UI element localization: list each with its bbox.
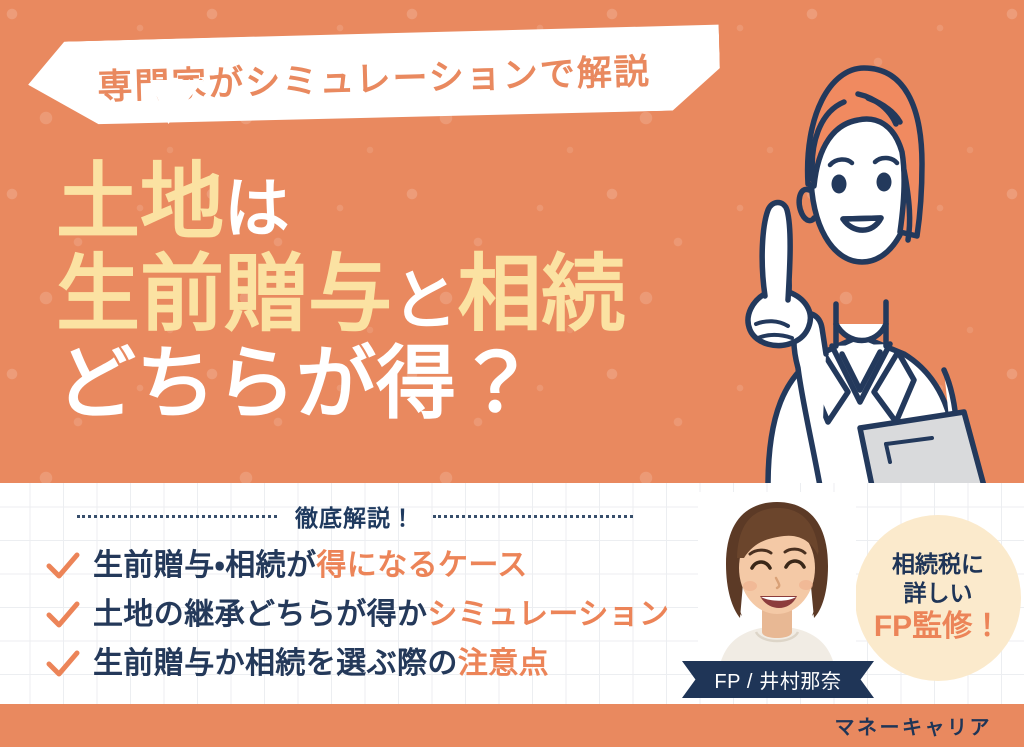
dotted-rule-left [77, 515, 277, 518]
bullet-1-plain: 生前贈与・相続が [93, 549, 316, 582]
list-item: 生前贈与か相続を選ぶ際の注意点 [46, 639, 746, 688]
dotted-rule-right [433, 515, 633, 518]
list-item: 土地の継承どちらが得かシミュレーション [46, 590, 746, 639]
headline-line-1-b: は [224, 172, 290, 245]
kicker-label: 徹底解説！ [295, 499, 415, 533]
banner-stage: 専門家がシミュレーションで解説 土地は 生前贈与と相続 どちらが得？ [0, 0, 1024, 747]
advisor-name: FP / 井村那奈 [714, 665, 841, 694]
badge-line-2: 詳しい [904, 580, 973, 607]
headline-line-1-a: 土地 [56, 155, 224, 249]
headline-line-3: どちらが得？ [56, 344, 746, 424]
hero-section: 専門家がシミュレーションで解説 土地は 生前贈与と相続 どちらが得？ [0, 0, 1024, 483]
list-item: 生前贈与・相続が得になるケース [46, 541, 746, 590]
bullet-2-highlight: シミュレーション [427, 598, 669, 631]
speech-bubble: 専門家がシミュレーションで解説 [27, 23, 721, 128]
list-item-text: 土地の継承どちらが得かシミュレーション [93, 600, 669, 630]
list-item-text: 生前贈与か相続を選ぶ際の注意点 [93, 649, 549, 679]
headline-line-2: 生前贈与と相続 [56, 252, 746, 336]
badge-line-1: 相続税に [892, 551, 984, 578]
status-badge: 相続税に 詳しい FP監修！ [855, 515, 1021, 681]
kicker-row: 徹底解説！ [0, 501, 710, 531]
name-ribbon: FP / 井村那奈 [682, 661, 874, 698]
list-item-text: 生前贈与・相続が得になるケース [93, 551, 528, 581]
speech-bubble-text: 専門家がシミュレーションで解説 [27, 23, 721, 128]
bullet-1-highlight: 得になるケース [316, 549, 527, 582]
check-icon [46, 601, 80, 629]
badge-line-3: FP監修！ [874, 610, 1002, 645]
check-icon [46, 552, 80, 580]
headline-line-1: 土地は [56, 160, 746, 244]
bullet-3-plain: 生前贈与か相続を選ぶ際の [93, 647, 458, 680]
avatar [698, 492, 856, 675]
bullet-3-highlight: 注意点 [458, 647, 549, 680]
page-title: 土地は 生前贈与と相続 どちらが得？ [56, 160, 746, 424]
check-icon [46, 650, 80, 678]
headline-line-2-c: 相続 [458, 247, 626, 341]
pointing-businesswoman-illustration [708, 24, 998, 483]
brand-logo: マネーキャリア [835, 704, 993, 747]
headline-line-2-b: と [392, 264, 458, 337]
headline-line-2-a: 生前贈与 [56, 247, 392, 341]
footer-bar: マネーキャリア [0, 704, 1024, 747]
bullet-list: 生前贈与・相続が得になるケース 土地の継承どちらが得かシミュレーション 生前贈与… [46, 541, 746, 688]
bullet-2-plain: 土地の継承どちらが得か [93, 598, 427, 631]
